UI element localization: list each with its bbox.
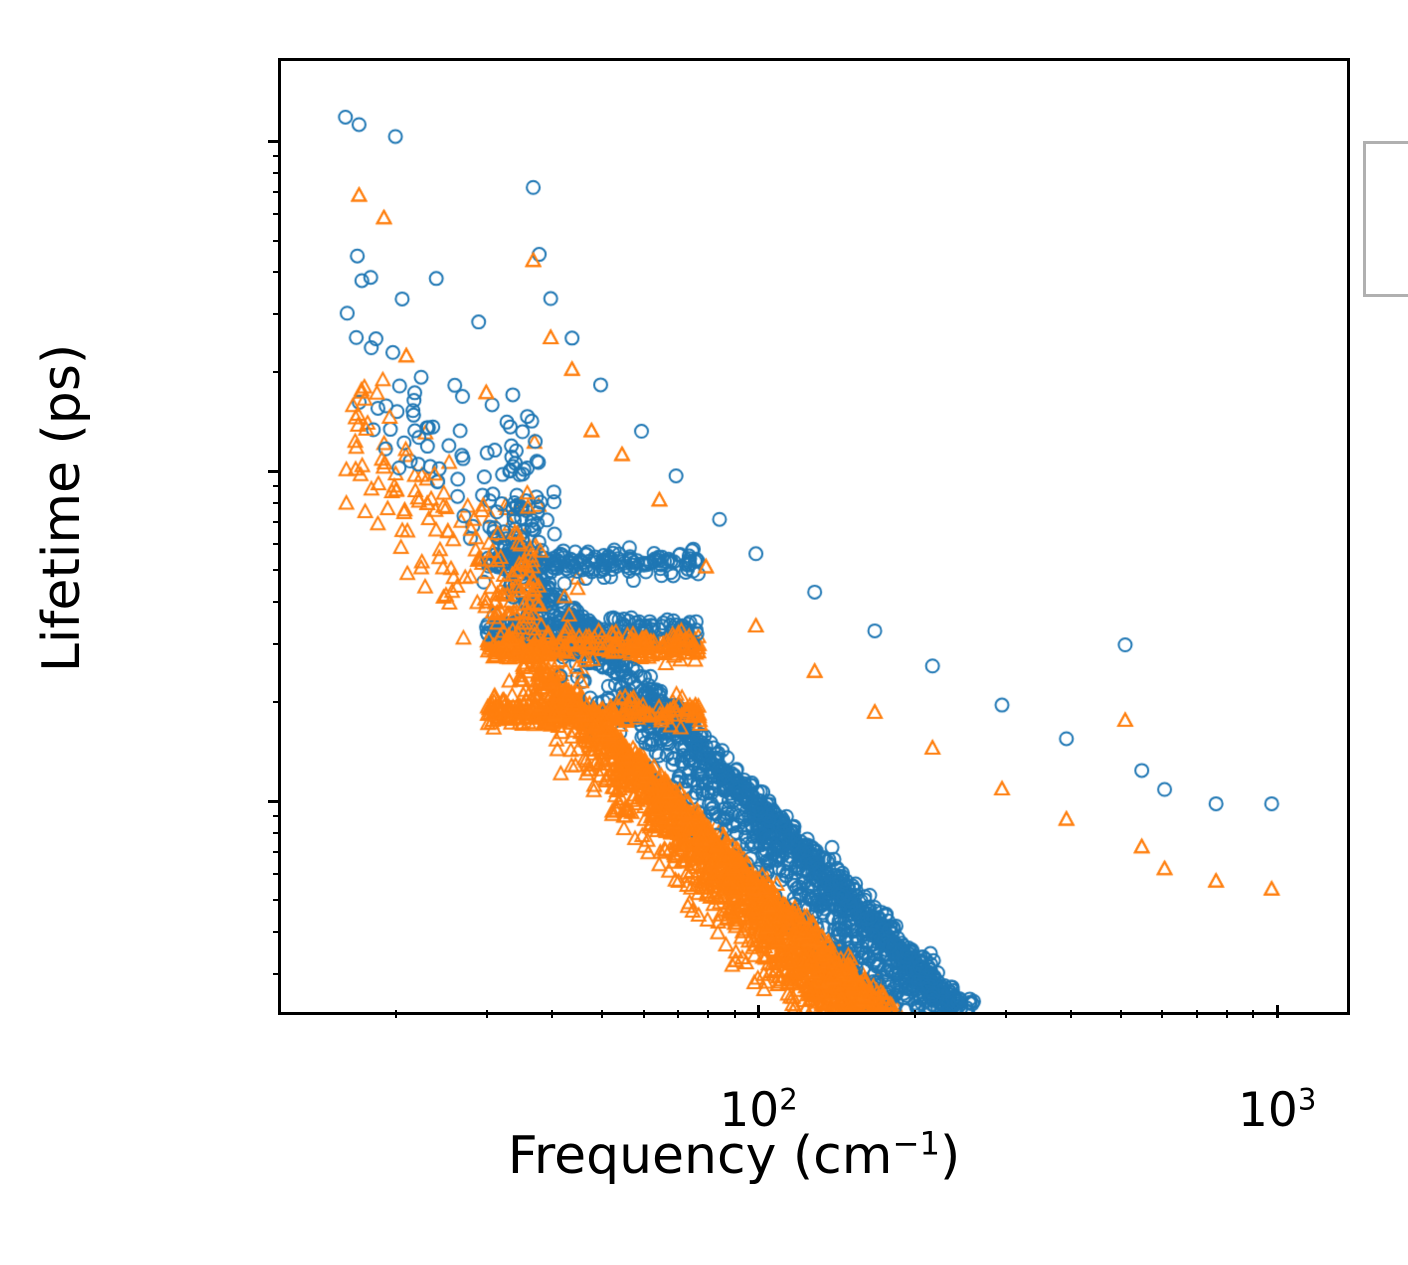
x-axis-minor-tick [734, 1010, 736, 1018]
tick-mantissa: 10 [719, 1083, 779, 1138]
y-axis-minor-tick [273, 485, 281, 487]
y-axis-minor-tick [273, 601, 281, 603]
y-axis-minor-tick [273, 701, 281, 703]
legend-box[interactable]: 300K 500K [1363, 141, 1408, 297]
x-axis-major-tick [1276, 1005, 1279, 1018]
y-axis-minor-tick [273, 543, 281, 545]
legend-entry-500k[interactable]: 500K [1366, 219, 1408, 281]
legend-marker-triangle-icon [1392, 235, 1408, 265]
y-axis-minor-tick [273, 502, 281, 504]
legend-entry-300k[interactable]: 300K [1366, 157, 1408, 219]
y-axis-minor-tick [273, 899, 281, 901]
x-axis-major-tick [757, 1005, 760, 1018]
x-axis-minor-tick [1070, 1010, 1072, 1018]
y-axis-minor-tick [273, 371, 281, 373]
phonon-lifetime-scatter-figure: Lifetime (ps) Frequency (cm−1) 100101102… [0, 0, 1408, 1265]
y-axis-minor-tick [273, 643, 281, 645]
x-axis-minor-tick [1161, 1010, 1163, 1018]
x-axis-title: Frequency (cm−1) [0, 1126, 1408, 1186]
scatter-plot-canvas [281, 61, 1347, 1012]
x-axis-minor-tick [643, 1010, 645, 1018]
x-axis-minor-tick [551, 1010, 553, 1018]
y-axis-major-tick [268, 800, 281, 803]
y-axis-minor-tick [273, 973, 281, 975]
y-axis-minor-tick [273, 931, 281, 933]
y-axis-minor-tick [273, 172, 281, 174]
plot-area: 100101102102103 300K 500K [278, 58, 1350, 1015]
x-axis-title-base: Frequency (cm [508, 1126, 893, 1186]
x-axis-minor-tick [1005, 1010, 1007, 1018]
x-axis-title-exponent: −1 [892, 1125, 940, 1163]
x-axis-minor-tick [486, 1010, 488, 1018]
x-axis-tick-label: 102 [719, 1083, 797, 1138]
x-axis-minor-tick [395, 1010, 397, 1018]
y-axis-minor-tick [273, 155, 281, 157]
x-axis-tick-label: 103 [1238, 1083, 1316, 1138]
y-axis-minor-tick [273, 569, 281, 571]
y-axis-minor-tick [273, 240, 281, 242]
y-axis-major-tick [268, 470, 281, 473]
y-axis-minor-tick [273, 832, 281, 834]
x-axis-minor-tick [1120, 1010, 1122, 1018]
tick-exponent: 3 [1298, 1082, 1317, 1116]
x-axis-minor-tick [677, 1010, 679, 1018]
y-axis-minor-tick [273, 521, 281, 523]
tick-mantissa: 10 [1238, 1083, 1298, 1138]
y-axis-title: Lifetime (ps) [32, 198, 92, 818]
x-axis-minor-tick [1252, 1010, 1254, 1018]
legend-marker-circle-icon [1392, 173, 1408, 203]
x-axis-minor-tick [601, 1010, 603, 1018]
y-axis-minor-tick [273, 313, 281, 315]
tick-exponent: 2 [779, 1082, 798, 1116]
y-axis-minor-tick [273, 191, 281, 193]
x-axis-title-close: ) [940, 1126, 960, 1186]
y-axis-minor-tick [273, 815, 281, 817]
y-axis-minor-tick [273, 873, 281, 875]
y-axis-minor-tick [273, 851, 281, 853]
x-axis-minor-tick [1226, 1010, 1228, 1018]
x-axis-minor-tick [914, 1010, 916, 1018]
y-axis-minor-tick [273, 213, 281, 215]
x-axis-minor-tick [707, 1010, 709, 1018]
y-axis-minor-tick [273, 271, 281, 273]
y-axis-major-tick [268, 140, 281, 143]
x-axis-minor-tick [1196, 1010, 1198, 1018]
